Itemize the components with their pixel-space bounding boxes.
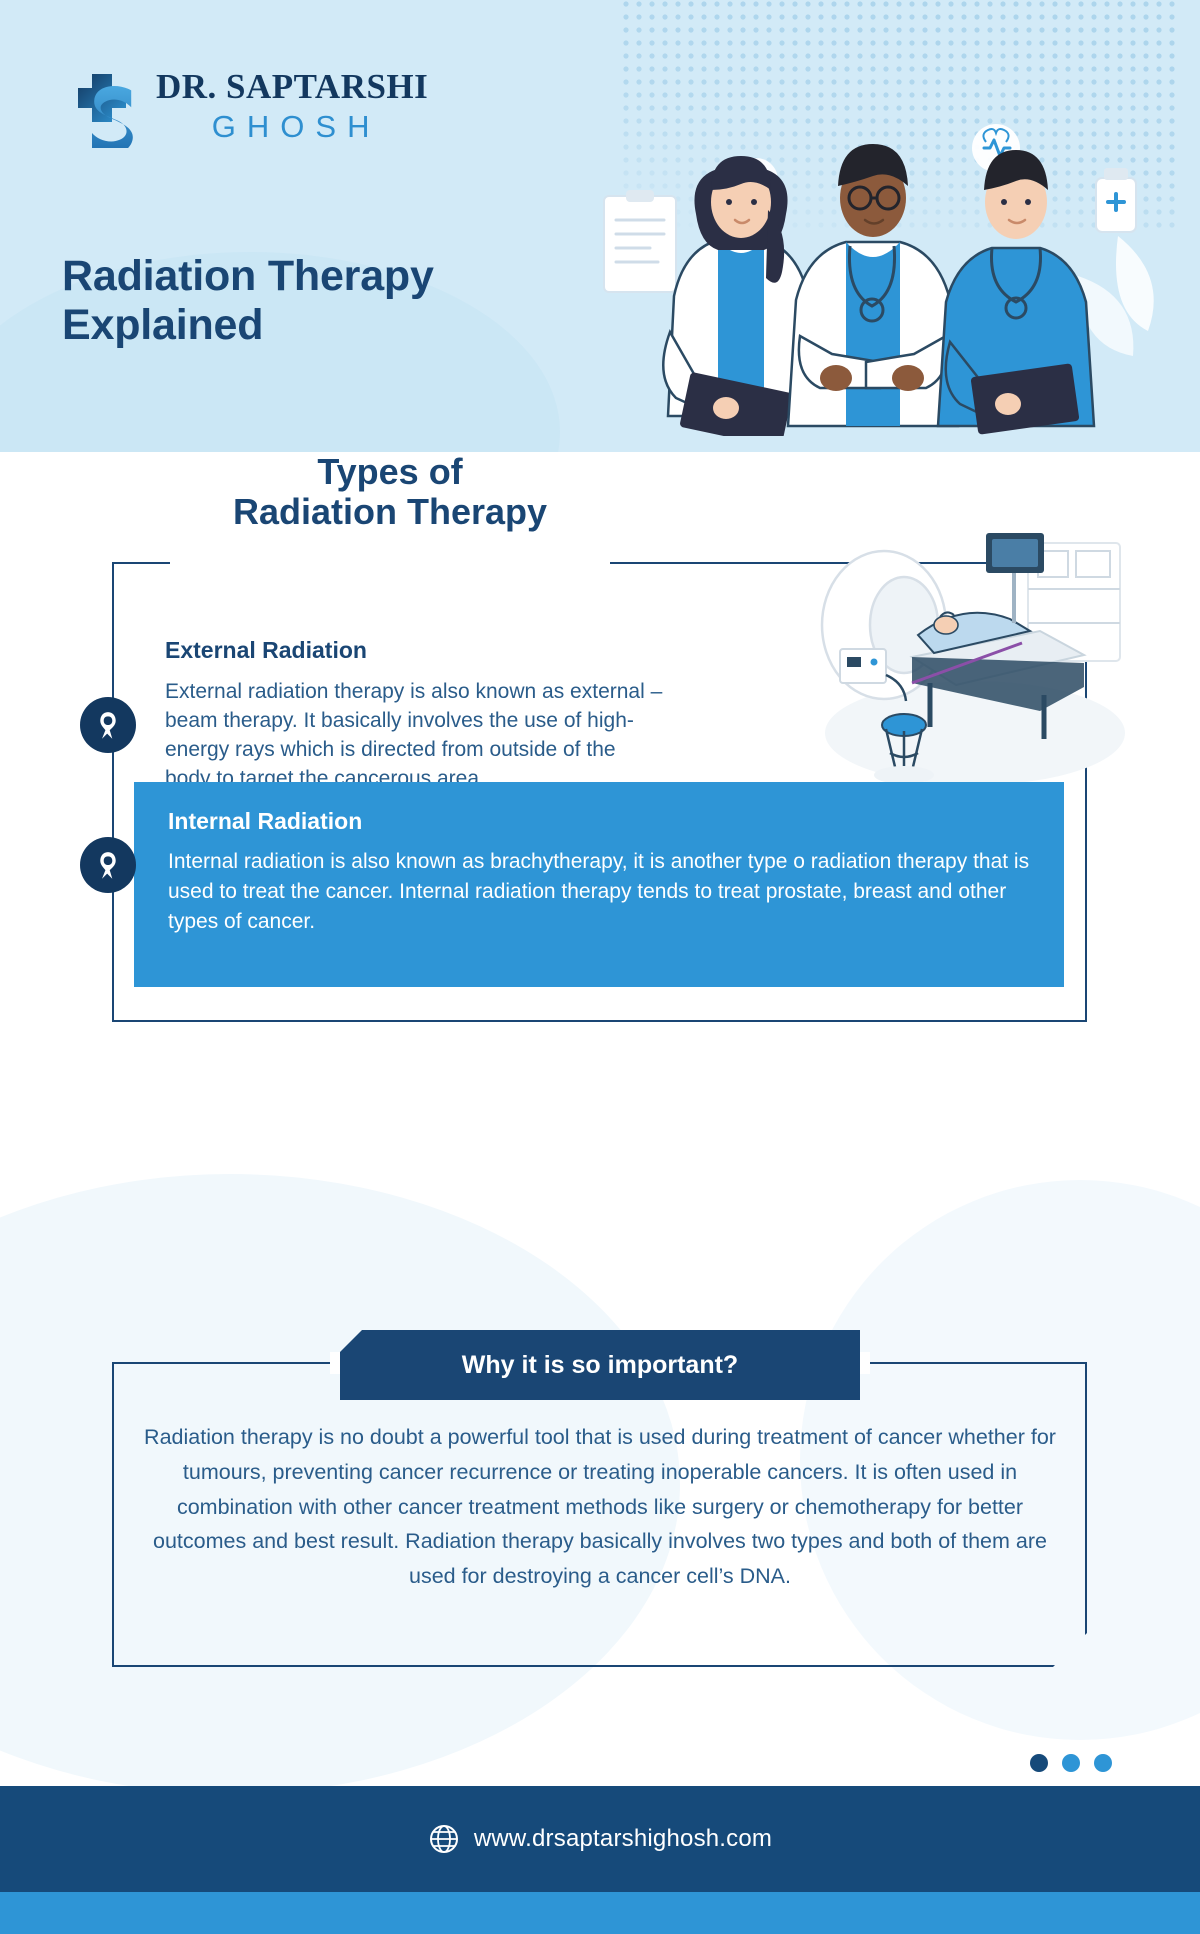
external-radiation-body: External radiation therapy is also known… (165, 678, 665, 794)
footer-website-url[interactable]: www.drsaptarshighosh.com (474, 1825, 772, 1853)
importance-body-text: Radiation therapy is no doubt a powerful… (140, 1420, 1060, 1594)
brand-logo-text: DR. SAPTARSHI GHOSH (156, 69, 428, 142)
page-title-line1: Radiation Therapy (62, 252, 434, 301)
importance-banner-label: Why it is so important? (462, 1351, 738, 1380)
awareness-ribbon-glyph (96, 850, 120, 880)
footer-accent-strip (0, 1892, 1200, 1934)
brand-logo[interactable]: DR. SAPTARSHI GHOSH (62, 62, 428, 148)
external-radiation-block: External Radiation External radiation th… (165, 637, 665, 794)
footer-dot-3 (1094, 1754, 1112, 1772)
footer-dot-2 (1062, 1754, 1080, 1772)
radiotherapy-machine-illustration (800, 507, 1140, 807)
hero-section: DR. SAPTARSHI GHOSH Radiation Therapy Ex… (0, 0, 1200, 452)
page-title: Radiation Therapy Explained (62, 252, 434, 351)
footer-dot-1 (1030, 1754, 1048, 1772)
awareness-ribbon-glyph (96, 710, 120, 740)
infographic-page: DR. SAPTARSHI GHOSH Radiation Therapy Ex… (0, 0, 1200, 1934)
footer-dots-decoration (1030, 1754, 1112, 1772)
internal-radiation-block: Internal Radiation Internal radiation is… (134, 782, 1064, 987)
footer-bar: www.drsaptarshighosh.com (0, 1786, 1200, 1892)
globe-icon (428, 1823, 460, 1855)
types-frame-gap-mask (170, 552, 610, 574)
medical-cross-s-monogram-icon (62, 62, 142, 148)
types-heading-line1: Types of (160, 452, 620, 492)
brand-name-line2: GHOSH (156, 111, 428, 142)
page-title-line2: Explained (62, 301, 434, 350)
importance-banner: Why it is so important? (340, 1330, 860, 1400)
types-heading-line2: Radiation Therapy (160, 492, 620, 532)
types-section-heading: Types of Radiation Therapy (160, 452, 620, 533)
awareness-ribbon-icon-external (80, 697, 136, 753)
medical-team-illustration (578, 86, 1178, 436)
awareness-ribbon-icon-internal (80, 837, 136, 893)
internal-radiation-title: Internal Radiation (168, 808, 1030, 835)
brand-name-line1: DR. SAPTARSHI (156, 69, 428, 104)
internal-radiation-body: Internal radiation is also known as brac… (168, 847, 1030, 936)
external-radiation-title: External Radiation (165, 637, 665, 664)
